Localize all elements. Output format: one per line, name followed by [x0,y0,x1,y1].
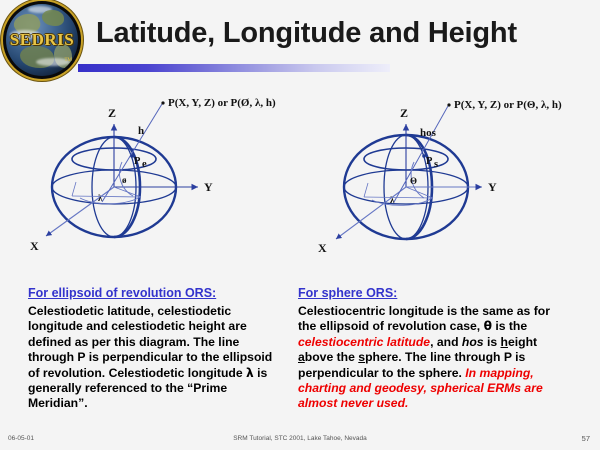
sphere-diagram: Z Y X hos P(X, Y, Z) or P(Θ, λ, h) P s Θ… [296,84,586,259]
page-title: Latitude, Longitude and Height [96,17,517,50]
point-label-p: P(X, Y, Z) or P(Ø, λ, h) [168,97,276,109]
ellipsoid-diagram-svg: Z Y X h P(X, Y, Z) or P(Ø, λ, h) P e ø λ [10,84,300,259]
angle-label-latitude: ø [122,175,127,185]
text-run-1: λ [246,366,254,380]
angle-label-latitude: Θ [410,176,417,186]
text-run-9: a [298,350,305,364]
column-right-body: Celestiocentric longitude is the same as… [298,304,570,412]
slide-footer: 06-05-01 SRM Tutorial, STC 2001, Lake Ta… [0,428,600,450]
footer-page-number: 57 [582,434,590,443]
height-label-hos: hos [420,127,437,139]
text-run-3: celestiocentric latitude [298,335,430,349]
axis-label-x: X [318,241,327,255]
height-label-h: h [138,125,144,137]
column-right-heading: For sphere ORS: [298,286,570,301]
surface-point-label: P [134,156,141,167]
text-run-2: is the [492,319,527,333]
point-label-p: P(X, Y, Z) or P(Θ, λ, h) [454,99,562,111]
column-left: For ellipsoid of revolution ORS: Celesti… [28,286,284,412]
text-run-0: Celestiodetic latitude, celestiodetic lo… [28,304,272,380]
surface-point-label: P [426,156,433,167]
axis-label-y: Y [204,180,213,194]
text-run-7: h [501,335,508,349]
text-run-5: hos [462,335,484,349]
logo-trademark-mark: TM [65,58,73,63]
column-left-body: Celestiodetic latitude, celestiodetic lo… [28,304,284,412]
text-run-10: bove the [305,350,359,364]
angle-label-longitude: λ [98,193,103,203]
logo-wordmark: SEDRIS [6,30,78,50]
axis-label-z: Z [400,106,408,120]
surface-point-subscript: e [142,159,147,170]
sphere-diagram-svg: Z Y X hos P(X, Y, Z) or P(Θ, λ, h) P s Θ… [296,84,586,259]
column-left-heading: For ellipsoid of revolution ORS: [28,286,284,301]
text-run-1: θ [484,319,492,333]
footer-center-text: SRM Tutorial, STC 2001, Lake Tahoe, Neva… [0,435,600,442]
text-run-6: is [484,335,501,349]
column-right: For sphere ORS: Celestiocentric longitud… [298,286,570,412]
axis-label-y: Y [488,180,497,194]
axis-label-z: Z [108,106,116,120]
axis-label-x: X [30,239,39,253]
surface-point-subscript: s [434,159,438,170]
sedris-logo-icon: SEDRIS TM [6,4,78,76]
ellipsoid-of-revolution-diagram: Z Y X h P(X, Y, Z) or P(Ø, λ, h) P e ø λ [10,84,300,259]
text-run-4: , and [430,335,462,349]
text-run-8: eight [508,335,537,349]
angle-label-longitude: λ [390,195,395,205]
title-gradient-rule [78,64,390,72]
slide-header: SEDRIS TM Latitude, Longitude and Height [0,0,600,82]
